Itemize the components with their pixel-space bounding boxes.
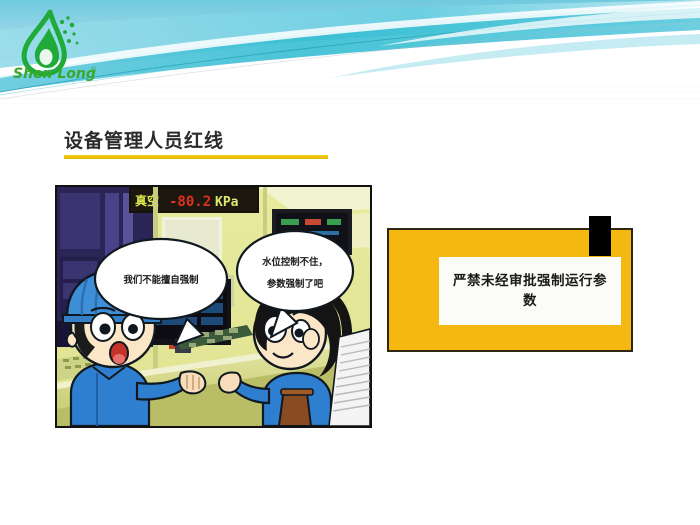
bubble-right-line1: 水位控制不住，	[262, 256, 328, 268]
bubble-left-text: 我们不能擅自强制	[123, 274, 198, 286]
header-banner	[0, 0, 700, 108]
meter-unit: KPa	[215, 195, 239, 210]
brand-logo: Shen Long ®	[8, 8, 104, 84]
slide-canvas: Shen Long ® 设备管理人员红线	[0, 0, 700, 525]
callout-black-tab	[589, 216, 611, 256]
warning-callout-text: 严禁未经审批强制运行参数	[447, 271, 613, 312]
svg-text:®: ®	[90, 66, 97, 74]
control-room-cartoon-image: 真空 -80.2 KPa	[55, 185, 372, 428]
warning-callout-inner-panel: 严禁未经审批强制运行参数	[439, 257, 621, 325]
meter-value: -80.2	[169, 194, 211, 210]
water-droplet-leaf-icon	[24, 12, 78, 74]
bubble-right-line2: 参数强制了吧	[267, 278, 324, 290]
page-title: 设备管理人员红线	[64, 126, 224, 153]
brand-wordmark: Shen Long	[13, 66, 96, 82]
title-underline-rule	[64, 155, 328, 159]
